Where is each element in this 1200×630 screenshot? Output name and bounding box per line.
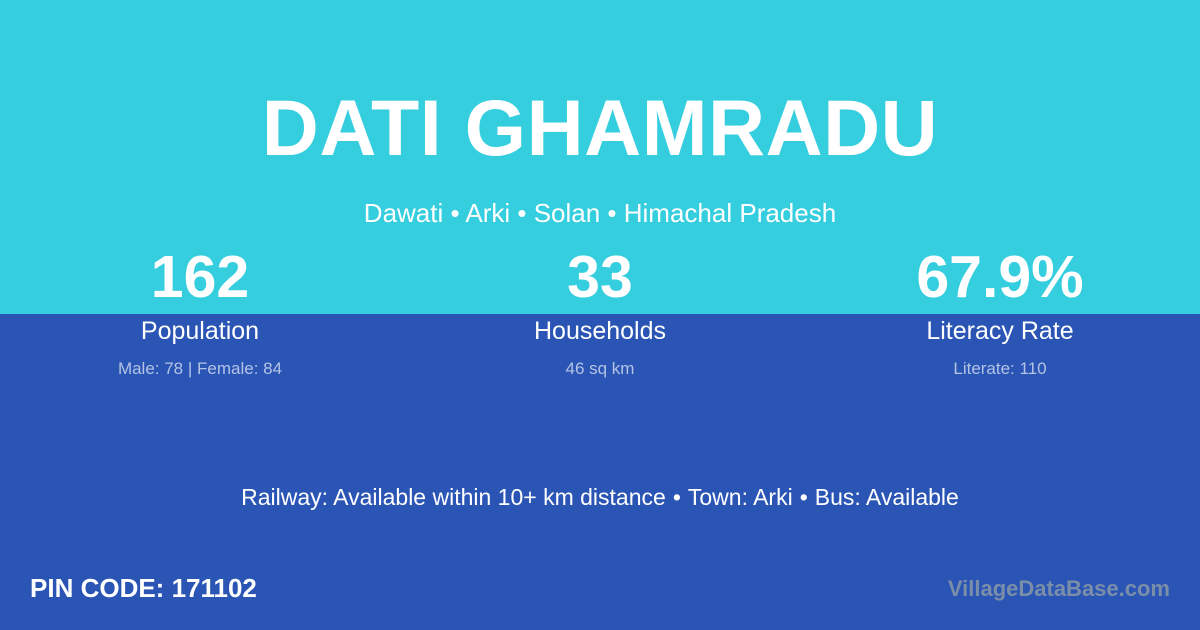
site-watermark: VillageDataBase.com [948,578,1170,600]
page-title: DATI GHAMRADU [0,0,1200,167]
village-info-card: DATI GHAMRADU Dawati • Arki • Solan • Hi… [0,0,1200,630]
facility-bus: Bus: Available [815,484,959,510]
stat-literacy-rate: 67.9% Literacy Rate Literate: 110 [800,248,1200,377]
stat-sublabel: 46 sq km [400,344,800,377]
stat-households: 33 Households 46 sq km [400,248,800,377]
facility-town: Town: Arki [688,484,793,510]
card-header: DATI GHAMRADU Dawati • Arki • Solan • Hi… [0,0,1200,226]
stat-population: 162 Population Male: 78 | Female: 84 [0,248,400,377]
stat-label: Literacy Rate [800,310,1200,344]
facility-separator-2: • [793,484,815,510]
stats-row: 162 Population Male: 78 | Female: 84 33 … [0,248,1200,377]
stat-value: 162 [0,248,400,310]
stat-sublabel: Literate: 110 [800,344,1200,377]
facilities-line: Railway: Available within 10+ km distanc… [0,486,1200,509]
stat-label: Population [0,310,400,344]
stat-value: 67.9% [800,248,1200,310]
stat-label: Households [400,310,800,344]
facility-separator-1: • [666,484,688,510]
pin-code: PIN CODE: 171102 [30,575,257,601]
stat-sublabel: Male: 78 | Female: 84 [0,344,400,377]
breadcrumb: Dawati • Arki • Solan • Himachal Pradesh [0,167,1200,226]
facility-railway: Railway: Available within 10+ km distanc… [241,484,666,510]
stat-value: 33 [400,248,800,310]
